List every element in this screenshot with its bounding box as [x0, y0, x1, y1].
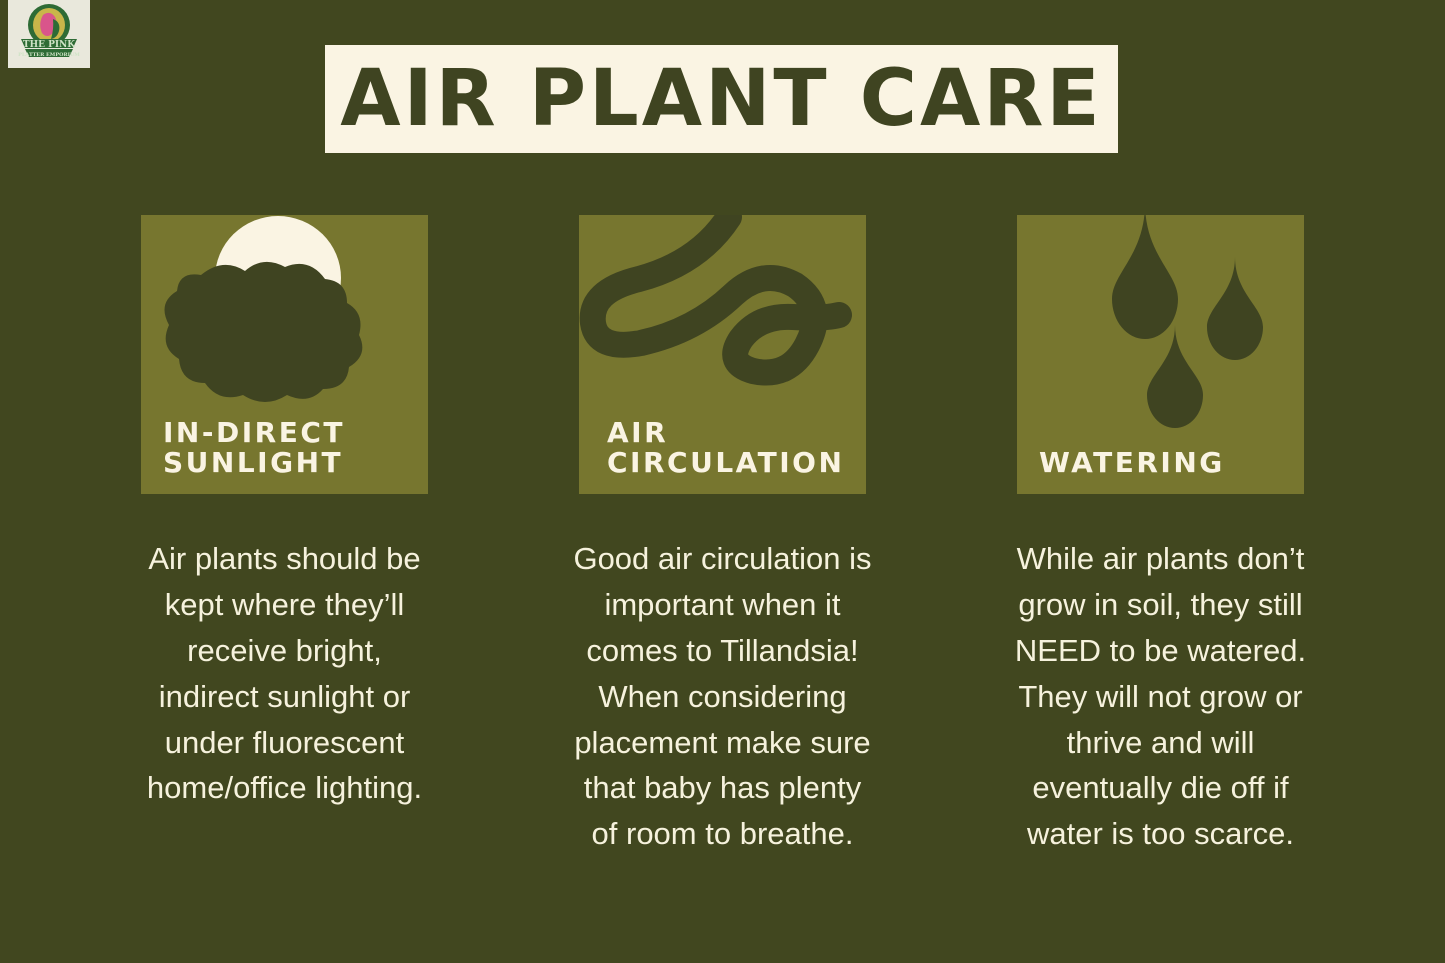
icon-card-label-line1: AIR — [607, 418, 848, 448]
icon-card-label-line2: CIRCULATION — [607, 448, 848, 478]
svg-text:PLATTER EMPORIUM: PLATTER EMPORIUM — [18, 52, 80, 58]
icon-card-label-line1: WATERING — [1039, 448, 1286, 478]
icon-card-label-line2: SUNLIGHT — [163, 448, 410, 478]
page-title: AIR PLANT CARE — [340, 60, 1102, 138]
care-text-in-direct-sunlight: Air plants should be kept where they’ll … — [135, 536, 435, 811]
care-column-watering: WATERING While air plants don’t grow in … — [1017, 215, 1304, 857]
care-column-air-circulation: AIR CIRCULATION Good air circulation is … — [579, 215, 866, 857]
brand-logo-watermark: THE PINK PLATTER EMPORIUM — [8, 0, 90, 68]
icon-card-watering: WATERING — [1017, 215, 1304, 494]
icon-card-label-line1: IN-DIRECT — [163, 418, 410, 448]
care-text-watering: While air plants don’t grow in soil, the… — [1011, 536, 1311, 857]
svg-text:THE PINK: THE PINK — [23, 40, 76, 50]
page-title-banner: AIR PLANT CARE — [325, 45, 1118, 153]
icon-card-label-air-circulation: AIR CIRCULATION — [607, 418, 848, 478]
care-column-in-direct-sunlight: IN-DIRECT SUNLIGHT Air plants should be … — [141, 215, 428, 857]
icon-card-label-watering: WATERING — [1039, 448, 1286, 478]
pink-platter-emporium-logo-icon: THE PINK PLATTER EMPORIUM — [13, 3, 85, 65]
icon-card-air-circulation: AIR CIRCULATION — [579, 215, 866, 494]
icon-card-in-direct-sunlight: IN-DIRECT SUNLIGHT — [141, 215, 428, 494]
care-text-air-circulation: Good air circulation is important when i… — [573, 536, 873, 857]
care-columns: IN-DIRECT SUNLIGHT Air plants should be … — [0, 215, 1445, 857]
icon-card-label-in-direct-sunlight: IN-DIRECT SUNLIGHT — [163, 418, 410, 478]
